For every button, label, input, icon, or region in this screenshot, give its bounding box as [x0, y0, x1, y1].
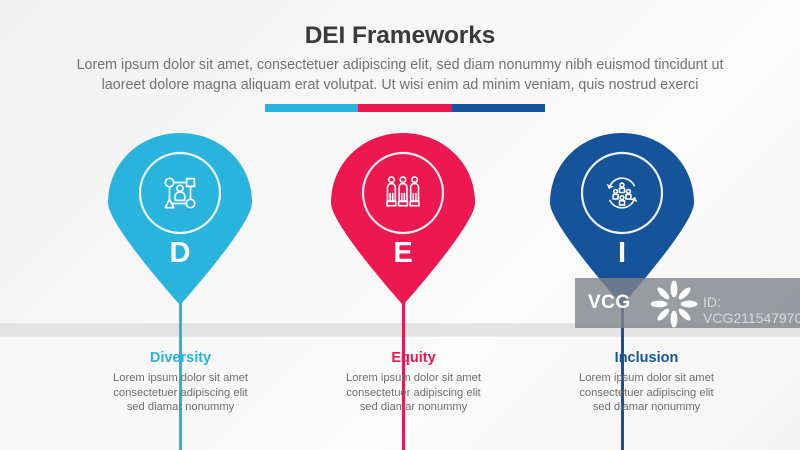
caption-title-equity: Equity	[297, 350, 530, 367]
pin-column-diversity[interactable]: D	[104, 133, 256, 343]
captions-row: Diversity Lorem ipsum dolor sit amet con…	[0, 350, 800, 415]
equity-three-people-icon	[385, 175, 421, 211]
vcg-starburst-logo-icon	[650, 280, 698, 328]
caption-desc-line-3: sed diamar nonummy	[530, 400, 763, 415]
caption-desc-line-1: Lorem ipsum dolor sit amet	[530, 371, 763, 386]
caption-column-inclusion: Inclusion Lorem ipsum dolor sit amet con…	[530, 350, 763, 415]
caption-desc-diversity: Lorem ipsum dolor sit amet consectetuer …	[64, 367, 297, 415]
caption-desc-inclusion: Lorem ipsum dolor sit amet consectetuer …	[530, 367, 763, 415]
caption-desc-equity: Lorem ipsum dolor sit amet consectetuer …	[297, 367, 530, 415]
pin-teardrop-shape	[327, 133, 479, 305]
pin-teardrop-shape	[104, 133, 256, 305]
pin-column-equity[interactable]: E	[327, 133, 479, 343]
starburst-shape	[650, 280, 698, 328]
pin-letter-equity: E	[327, 239, 479, 268]
caption-desc-line-2: consectetuer adipiscing elit	[530, 386, 763, 401]
caption-column-diversity: Diversity Lorem ipsum dolor sit amet con…	[64, 350, 297, 415]
pin-marker-diversity[interactable]: D	[104, 133, 256, 305]
pin-marker-equity[interactable]: E	[327, 133, 479, 305]
pin-letter-diversity: D	[104, 239, 256, 268]
caption-desc-line-2: consectetuer adipiscing elit	[297, 386, 530, 401]
caption-desc-line-1: Lorem ipsum dolor sit amet	[64, 371, 297, 386]
watermark-brand: VCG	[588, 292, 631, 314]
inclusion-group-cycle-icon	[604, 175, 640, 211]
caption-desc-line-1: Lorem ipsum dolor sit amet	[297, 371, 530, 386]
caption-desc-line-2: consectetuer adipiscing elit	[64, 386, 297, 401]
diversity-network-icon	[162, 175, 198, 211]
caption-desc-line-3: sed diamar nonummy	[297, 400, 530, 415]
watermark-overlay: VCG ID: VCG211547970913	[575, 278, 800, 328]
caption-desc-line-3: sed diamar nonummy	[64, 400, 297, 415]
watermark-id-text: ID: VCG211547970913	[703, 294, 800, 326]
pin-letter-inclusion: I	[546, 239, 698, 268]
caption-column-equity: Equity Lorem ipsum dolor sit amet consec…	[297, 350, 530, 415]
caption-title-diversity: Diversity	[64, 350, 297, 367]
caption-title-inclusion: Inclusion	[530, 350, 763, 367]
